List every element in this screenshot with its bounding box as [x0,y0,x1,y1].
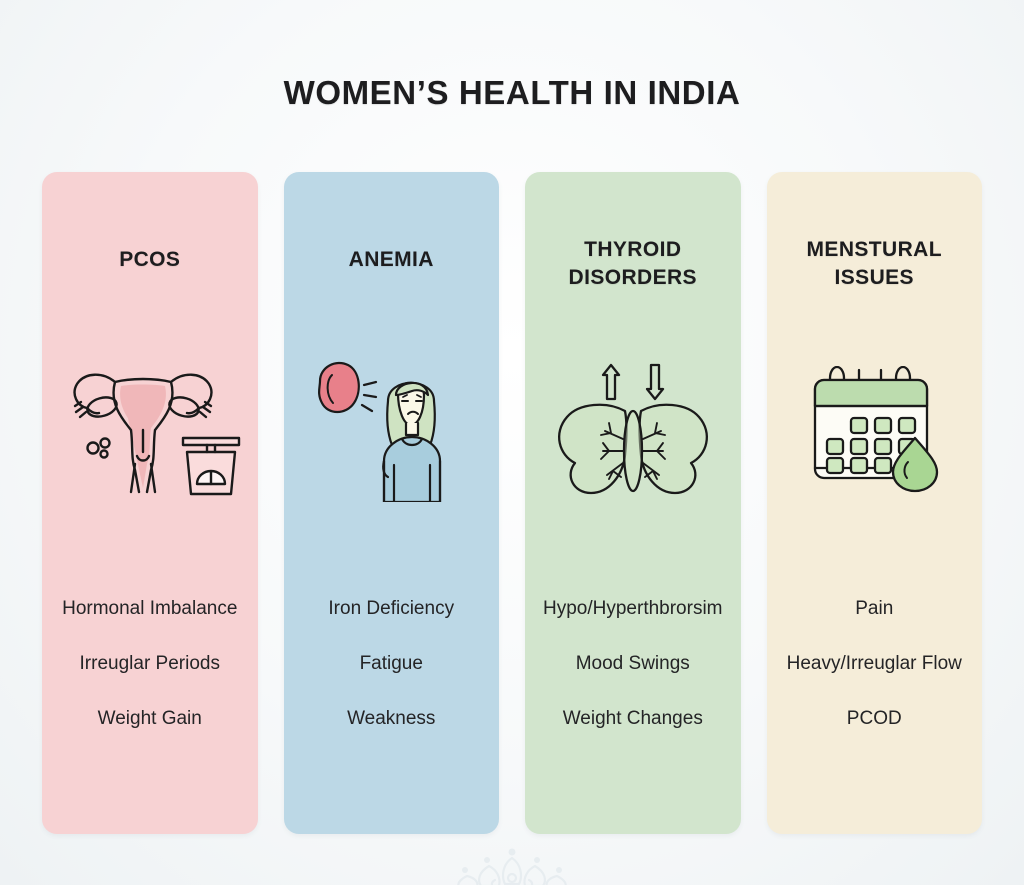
list-item: Fatigue [284,654,500,673]
symptom-list-thyroid-disorders: Hypo/Hyperthbrorsim Mood Swings Weight C… [525,599,741,728]
list-item: Weight Changes [525,709,741,728]
card-anemia[interactable]: ANEMIA [284,172,500,834]
symptom-list-pcos: Hormonal Imbalance Irreuglar Periods Wei… [42,599,258,728]
blood-cell-tired-woman-icon [284,357,500,502]
list-item: Hormonal Imbalance [42,599,258,618]
card-title-line-2: ISSUES [775,264,975,292]
symptom-list-menstural-issues: Pain Heavy/Irreuglar Flow PCOD [767,599,983,728]
card-menstural-issues[interactable]: MENSTURAL ISSUES [767,172,983,834]
list-item: Iron Deficiency [284,599,500,618]
list-item: Heavy/Irreuglar Flow [767,654,983,673]
card-title-anemia: ANEMIA [284,246,500,274]
list-item: Irreuglar Periods [42,654,258,673]
card-title-line-2: DISORDERS [533,264,733,292]
thyroid-butterfly-arrows-icon [525,357,741,502]
list-item: Weight Gain [42,709,258,728]
card-title-thyroid-disorders: THYROID DISORDERS [525,236,741,291]
list-item: Mood Swings [525,654,741,673]
card-thyroid-disorders[interactable]: THYROID DISORDERS Hypo/Hyp [525,172,741,834]
list-item: PCOD [767,709,983,728]
card-title-line-1: THYROID [533,236,733,264]
card-title-pcos: PCOS [42,246,258,274]
uterus-ovaries-scale-icon [42,357,258,502]
calendar-droplet-icon [767,357,983,502]
card-title-menstural-issues: MENSTURAL ISSUES [767,236,983,291]
mandala-watermark [427,840,597,885]
card-title-line-1: MENSTURAL [775,236,975,264]
symptom-list-anemia: Iron Deficiency Fatigue Weakness [284,599,500,728]
list-item: Weakness [284,709,500,728]
page-title: WOMEN’S HEALTH IN INDIA [0,74,1024,112]
card-pcos[interactable]: PCOS [42,172,258,834]
cards-row: PCOS [42,172,982,834]
list-item: Pain [767,599,983,618]
list-item: Hypo/Hyperthbrorsim [525,599,741,618]
